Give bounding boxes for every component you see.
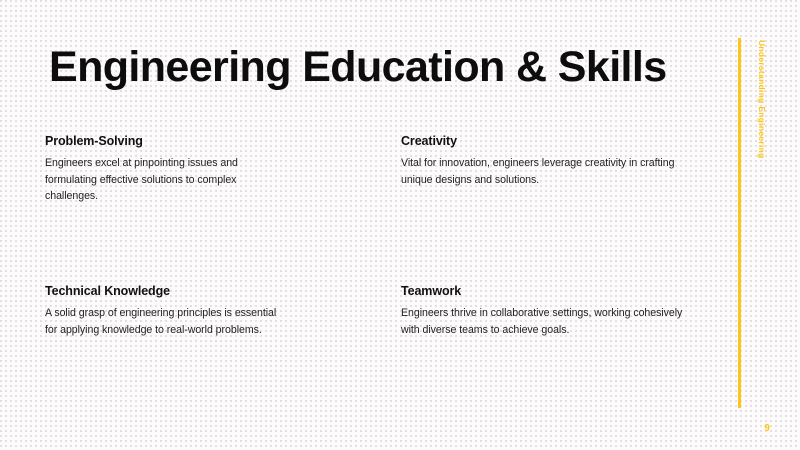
block-heading: Technical Knowledge bbox=[45, 283, 375, 299]
block-heading: Creativity bbox=[401, 133, 731, 149]
block-body: Engineers excel at pinpointing issues an… bbox=[45, 155, 291, 205]
content-block-teamwork: Teamwork Engineers thrive in collaborati… bbox=[401, 283, 731, 338]
side-label-understanding-engineering: Understanding Engineering bbox=[757, 40, 766, 159]
block-heading: Problem-Solving bbox=[45, 133, 375, 149]
content-block-problem-solving: Problem-Solving Engineers excel at pinpo… bbox=[45, 133, 375, 205]
block-body: Vital for innovation, engineers leverage… bbox=[401, 155, 701, 188]
block-body: Engineers thrive in collaborative settin… bbox=[401, 305, 701, 338]
block-body: A solid grasp of engineering principles … bbox=[45, 305, 291, 338]
content-block-creativity: Creativity Vital for innovation, enginee… bbox=[401, 133, 731, 188]
content-grid: Problem-Solving Engineers excel at pinpo… bbox=[0, 0, 800, 450]
page-number: 9 bbox=[760, 423, 774, 435]
block-heading: Teamwork bbox=[401, 283, 731, 299]
slide-canvas: Engineering Education & Skills Problem-S… bbox=[0, 0, 800, 450]
content-block-technical-knowledge: Technical Knowledge A solid grasp of eng… bbox=[45, 283, 375, 338]
accent-rule bbox=[738, 38, 741, 408]
